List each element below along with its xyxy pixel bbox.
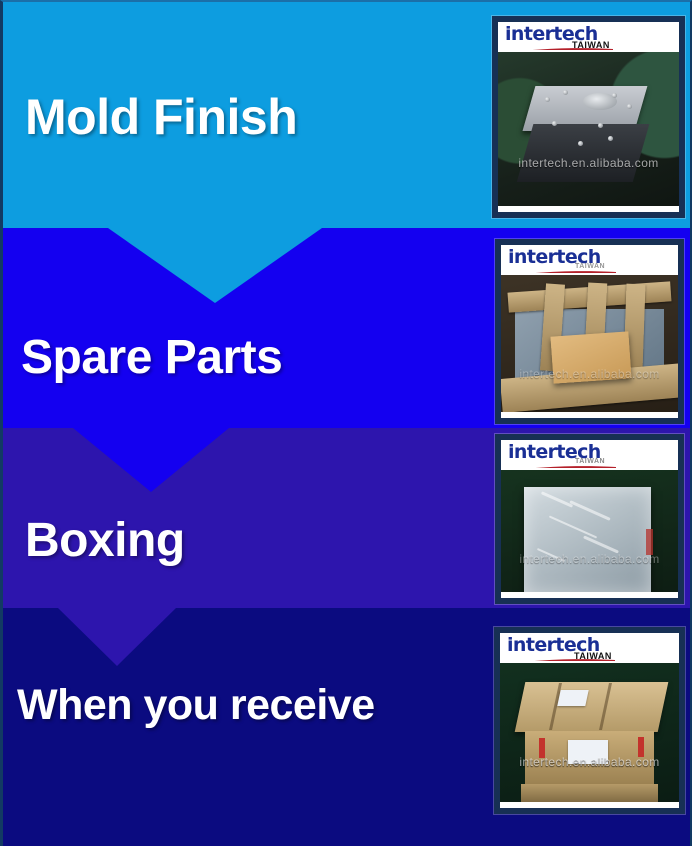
step-title-2: Spare Parts bbox=[21, 334, 282, 382]
photo-footer-band-4 bbox=[500, 802, 679, 814]
step-photo-card-4[interactable]: intertech TAIWAN intertech.en.alibaba.co… bbox=[494, 627, 685, 814]
photo-footer-band-1 bbox=[498, 206, 679, 218]
step-photo-image-4: intertech.en.alibaba.com bbox=[500, 663, 679, 814]
chevron-step-2-to-3 bbox=[73, 428, 229, 492]
step-title-3: Boxing bbox=[25, 517, 185, 565]
chevron-step-1-to-2 bbox=[108, 228, 322, 303]
chevron-step-3-to-4 bbox=[58, 608, 176, 666]
step-title-4: When you receive bbox=[17, 684, 375, 727]
photo-footer-band-3 bbox=[501, 592, 678, 604]
brand-logo-3: intertech TAIWAN bbox=[501, 440, 678, 470]
step-title-1: Mold Finish bbox=[25, 92, 297, 142]
step-photo-card-2[interactable]: intertech TAIWAN intertech.en.alibaba.co… bbox=[495, 239, 684, 424]
photo-footer-band-2 bbox=[501, 412, 678, 424]
step-photo-card-3[interactable]: intertech TAIWAN intertech.en.alibaba.co… bbox=[495, 434, 684, 604]
brand-logo-1: intertech TAIWAN bbox=[498, 22, 679, 52]
infographic-canvas: Mold Finish Spare Parts Boxing When you … bbox=[0, 0, 692, 846]
brand-swoosh-icon bbox=[506, 265, 618, 273]
brand-swoosh-icon bbox=[506, 460, 618, 468]
step-photo-card-1[interactable]: intertech TAIWAN intertech.en.alibaba.co… bbox=[492, 16, 685, 218]
brand-swoosh-icon bbox=[505, 653, 617, 661]
brand-logo-2: intertech TAIWAN bbox=[501, 245, 678, 275]
step-photo-image-1: intertech.en.alibaba.com bbox=[498, 52, 679, 218]
step-photo-image-3: intertech.en.alibaba.com bbox=[501, 470, 678, 604]
brand-logo-4: intertech TAIWAN bbox=[500, 633, 679, 663]
step-photo-image-2: intertech.en.alibaba.com bbox=[501, 275, 678, 424]
brand-swoosh-icon bbox=[503, 42, 615, 50]
